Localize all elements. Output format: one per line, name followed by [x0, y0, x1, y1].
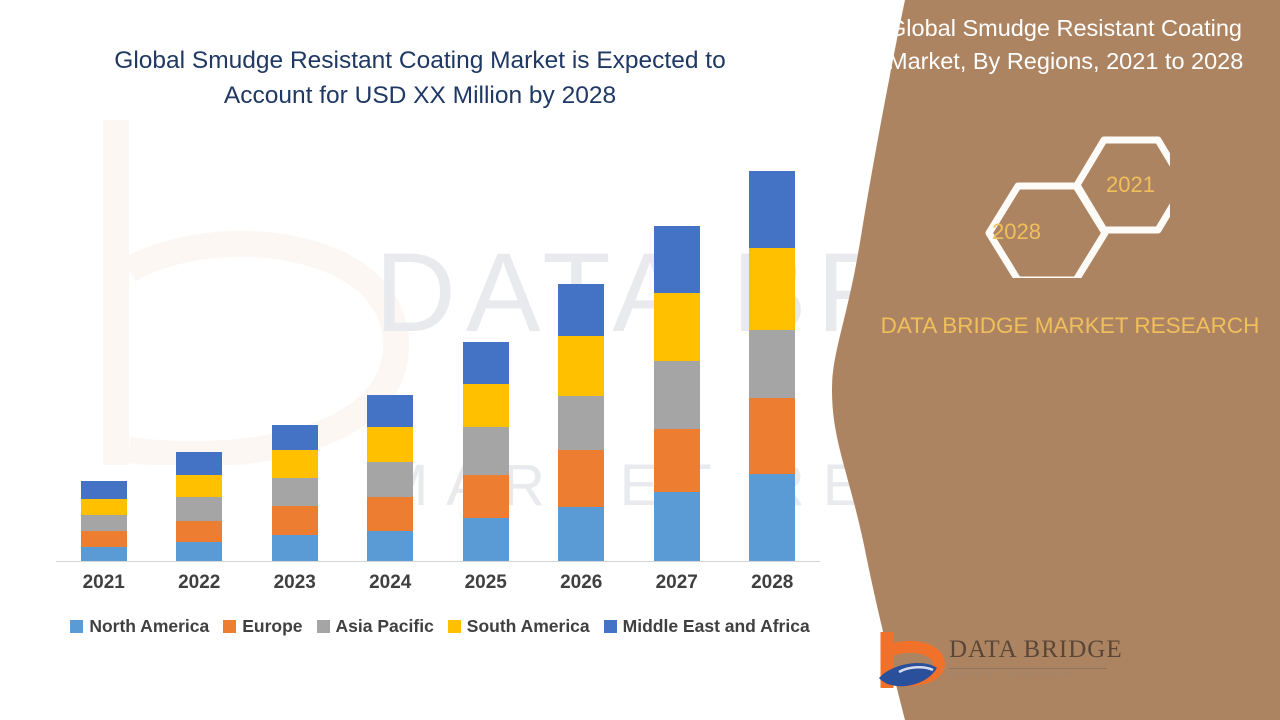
bar-segment — [367, 497, 413, 530]
bar-segment — [463, 518, 509, 562]
chart-panel: DATA BRIDGE MARKET RESEARCH Global Smudg… — [0, 0, 860, 720]
bar-segment — [654, 429, 700, 492]
bar-segment — [81, 547, 127, 562]
logo-divider — [949, 668, 1107, 669]
bar-segment — [367, 427, 413, 461]
x-axis-label-2023: 2023 — [247, 572, 343, 594]
legend-label: Middle East and Africa — [623, 616, 810, 637]
bar-segment — [176, 542, 222, 562]
bar-group-2027[interactable] — [654, 226, 700, 562]
bar-segment — [749, 398, 795, 474]
bar-segment — [176, 475, 222, 497]
bar-segment — [81, 531, 127, 548]
chart-legend: North AmericaEuropeAsia PacificSouth Ame… — [56, 616, 824, 637]
bar-segment — [463, 342, 509, 385]
legend-label: South America — [467, 616, 590, 637]
bar-group-2021[interactable] — [81, 481, 127, 563]
bar-segment — [81, 481, 127, 500]
logo-tagline: MARKET RESEARCH — [950, 670, 1110, 679]
bar-segment — [367, 531, 413, 562]
legend-swatch — [70, 620, 83, 633]
legend-item[interactable]: Asia Pacific — [317, 616, 434, 637]
bar-segment — [176, 497, 222, 521]
bar-segment — [749, 474, 795, 562]
bar-segment — [749, 248, 795, 330]
bar-group-2025[interactable] — [463, 342, 509, 563]
bar-group-2023[interactable] — [272, 425, 318, 562]
legend-item[interactable]: South America — [448, 616, 590, 637]
logo-b-icon — [875, 630, 945, 696]
bar-segment — [272, 506, 318, 535]
x-axis-label-2024: 2024 — [342, 572, 438, 594]
hexagon-label-2028: 2028 — [992, 219, 1041, 245]
bar-segment — [272, 450, 318, 478]
plot-area — [56, 170, 820, 562]
brand-subtitle: DATA BRIDGE MARKET RESEARCH — [880, 310, 1260, 343]
logo-wordmark: DATA BRIDGE — [949, 636, 1123, 664]
legend-item[interactable]: Middle East and Africa — [604, 616, 810, 637]
legend-item[interactable]: Europe — [223, 616, 302, 637]
x-axis-label-2026: 2026 — [533, 572, 629, 594]
brand-title: Global Smudge Resistant Coating Market, … — [888, 12, 1260, 79]
bar-segment — [654, 361, 700, 429]
bar-segment — [558, 284, 604, 336]
bar-segment — [176, 521, 222, 542]
legend-label: Asia Pacific — [336, 616, 434, 637]
bar-group-2024[interactable] — [367, 395, 413, 562]
bar-segment — [654, 492, 700, 562]
legend-label: Europe — [242, 616, 302, 637]
bar-group-2026[interactable] — [558, 284, 604, 562]
bar-segment — [367, 395, 413, 427]
bar-group-2022[interactable] — [176, 452, 222, 562]
hexagon-badges: 2028 2021 — [970, 128, 1170, 278]
x-axis-line — [56, 561, 820, 562]
bar-segment — [749, 330, 795, 398]
bar-segment — [176, 452, 222, 475]
bar-segment — [749, 171, 795, 248]
x-axis-label-2025: 2025 — [438, 572, 534, 594]
bar-segment — [654, 226, 700, 293]
legend-swatch — [317, 620, 330, 633]
x-axis-label-2022: 2022 — [151, 572, 247, 594]
bar-group-2028[interactable] — [749, 171, 795, 562]
bar-segment — [272, 478, 318, 505]
bar-segment — [367, 462, 413, 498]
bar-segment — [463, 475, 509, 518]
legend-swatch — [448, 620, 461, 633]
legend-label: North America — [89, 616, 209, 637]
bar-segment — [463, 384, 509, 427]
legend-item[interactable]: North America — [70, 616, 209, 637]
chart-title: Global Smudge Resistant Coating Market i… — [70, 44, 770, 114]
bar-segment — [272, 425, 318, 450]
hexagon-label-2021: 2021 — [1106, 172, 1155, 198]
x-axis-label-2027: 2027 — [629, 572, 725, 594]
brand-content: Global Smudge Resistant Coating Market, … — [860, 0, 1280, 720]
legend-swatch — [604, 620, 617, 633]
bar-segment — [272, 535, 318, 562]
company-logo: DATA BRIDGE MARKET RESEARCH — [875, 630, 1125, 702]
bar-segment — [558, 507, 604, 562]
bar-segment — [558, 336, 604, 396]
x-axis-label-2028: 2028 — [724, 572, 820, 594]
bar-segment — [463, 427, 509, 475]
x-axis-label-2021: 2021 — [56, 572, 152, 594]
bar-segment — [558, 450, 604, 506]
legend-swatch — [223, 620, 236, 633]
bar-segment — [81, 499, 127, 515]
bar-segment — [558, 396, 604, 450]
bar-segment — [81, 515, 127, 531]
x-axis-labels: 20212022202320242025202620272028 — [56, 572, 820, 602]
bar-segment — [654, 293, 700, 361]
